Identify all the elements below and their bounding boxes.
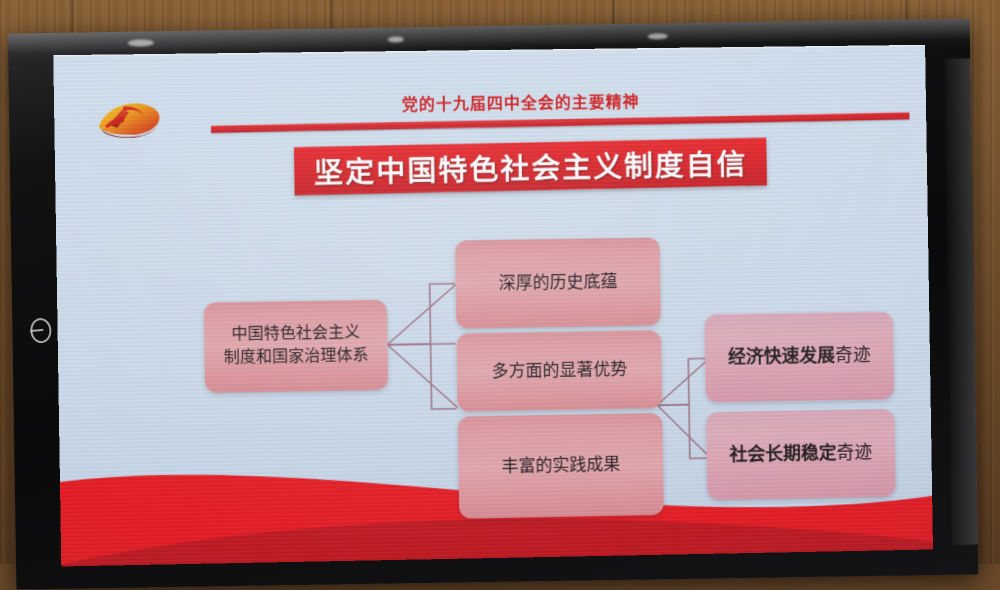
diagram-node-branch-3[interactable]: 丰富的实践成果 bbox=[458, 413, 664, 519]
leaf-1-bold: 经济快速发展 bbox=[728, 346, 835, 368]
cpc-party-emblem-icon bbox=[92, 96, 163, 141]
leaf-2-bold: 社会长期稳定 bbox=[729, 443, 836, 465]
slide-title-text: 坚定中国特色社会主义制度自信 bbox=[314, 141, 748, 192]
slide-header-title: 党的十九届四中全会的主要精神 bbox=[402, 88, 640, 115]
leaf-1-normal: 奇迹 bbox=[835, 345, 871, 365]
diagram-node-root[interactable]: 中国特色社会主义 制度和国家治理体系 bbox=[204, 300, 388, 393]
diagram-node-branch-1[interactable]: 深厚的历史底蕴 bbox=[455, 238, 661, 329]
branch-2-label: 多方面的显著优势 bbox=[485, 358, 633, 385]
monitor-brand-logo-icon bbox=[29, 317, 52, 344]
root-label-line1: 中国特色社会主义 bbox=[223, 322, 368, 347]
root-label-line2: 制度和国家治理体系 bbox=[224, 345, 369, 370]
display-monitor: 党的十九届四中全会的主要精神 坚定中国特色社会主义制度自信 bbox=[8, 18, 979, 589]
diagram-node-leaf-2[interactable]: 社会长期稳定奇迹 bbox=[706, 409, 896, 500]
diagram-node-leaf-1[interactable]: 经济快速发展奇迹 bbox=[704, 312, 894, 403]
branch-3-label: 丰富的实践成果 bbox=[495, 453, 626, 479]
slide-screen: 党的十九届四中全会的主要精神 坚定中国特色社会主义制度自信 bbox=[53, 45, 933, 567]
branch-1-label: 深厚的历史底蕴 bbox=[492, 270, 623, 296]
diagram-node-branch-2[interactable]: 多方面的显著优势 bbox=[456, 330, 662, 411]
slide-title-banner: 坚定中国特色社会主义制度自信 bbox=[294, 138, 767, 196]
leaf-2-normal: 奇迹 bbox=[836, 442, 872, 463]
